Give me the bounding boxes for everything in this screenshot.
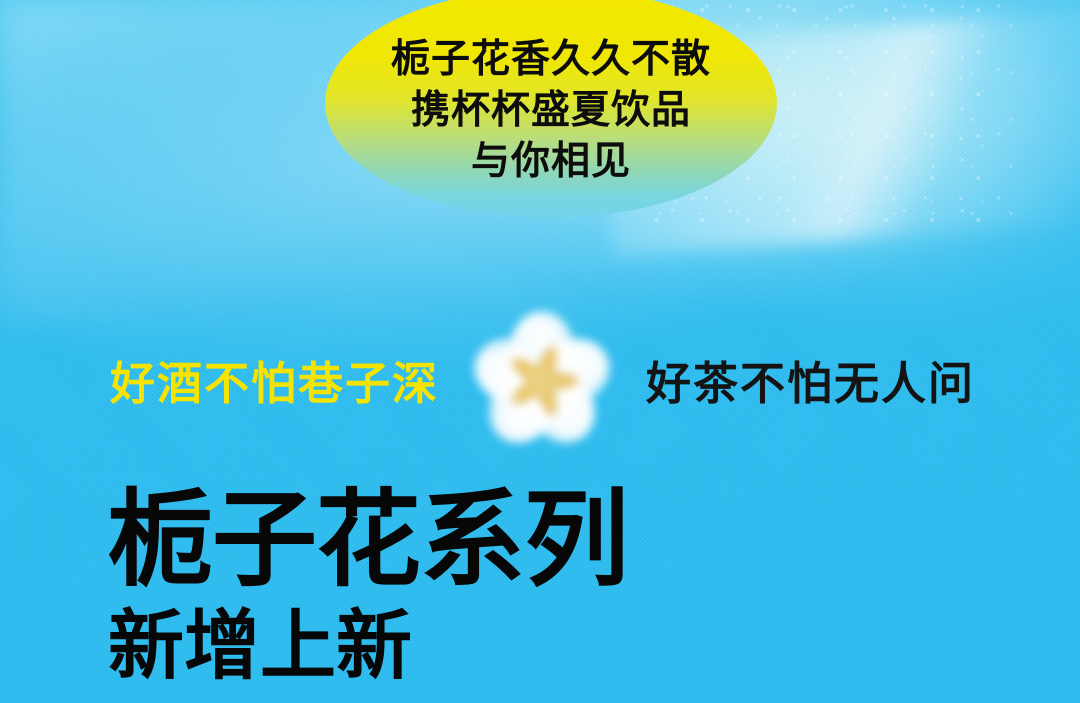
slogan-left: 好酒不怕巷子深 (110, 348, 439, 420)
slogan-right: 好茶不怕无人问 (646, 348, 975, 420)
badge-line-3: 与你相见 (471, 136, 631, 187)
promo-poster: 栀子花香久久不散 携杯杯盛夏饮品 与你相见 好酒不怕巷子深 好茶不怕无人问 (0, 0, 1080, 703)
headline-main-title: 栀子花系列 (108, 484, 628, 596)
badge-line-1: 栀子花香久久不散 (391, 34, 711, 85)
plumeria-flower-icon (466, 303, 618, 461)
headline-subtitle: 新增上新 (108, 598, 628, 694)
badge-line-2: 携杯杯盛夏饮品 (411, 85, 691, 136)
headline-block: 栀子花系列 新增上新 (108, 484, 628, 694)
